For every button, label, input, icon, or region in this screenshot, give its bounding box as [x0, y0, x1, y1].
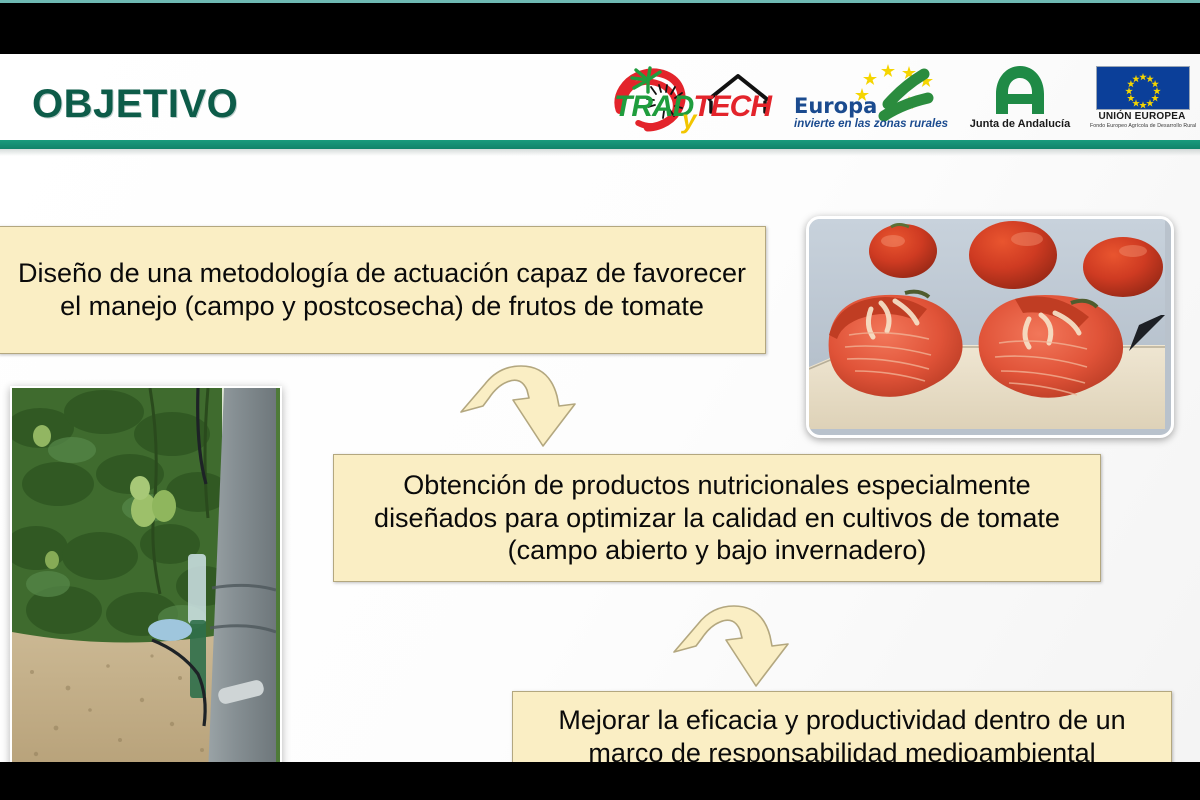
union-europea-subtitle: Fondo Europeo Agrícola de Desarrollo Rur…: [1090, 123, 1194, 129]
eu-flag: [1096, 66, 1190, 110]
tomato-photo-art: [809, 219, 1165, 429]
objective-box-3: Mejorar la eficacia y productividad dent…: [512, 691, 1172, 762]
eu-stars-circle-icon: [1097, 67, 1189, 109]
objective-box-3-text: Mejorar la eficacia y productividad dent…: [527, 704, 1157, 762]
objective-box-2: Obtención de productos nutricionales esp…: [333, 454, 1101, 582]
slide-canvas: OBJETIVO: [0, 54, 1200, 762]
union-europea-title: UNIÓN EUROPEA: [1090, 111, 1194, 122]
objective-box-2-text: Obtención de productos nutricionales esp…: [348, 469, 1086, 568]
letterbox-top: [0, 3, 1200, 54]
tradtech-part-y: y: [682, 104, 696, 135]
tradtech-logo: TRADTECH y: [598, 60, 778, 140]
letterbox-bottom: [0, 762, 1200, 800]
objective-box-1-text: Diseño de una metodología de actuación c…: [13, 257, 751, 323]
screenshot-stage: OBJETIVO: [0, 0, 1200, 800]
logo-strip: TRADTECH y Eu: [598, 56, 1194, 144]
europa-title: Europa: [794, 94, 877, 118]
junta-de-andalucia-logo: Junta de Andalucía: [964, 60, 1076, 140]
curved-arrow-1: [455, 354, 581, 450]
europa-rural-logo: Europa invierte en las zonas rurales: [792, 60, 950, 140]
tradtech-part-tech: TECH: [693, 90, 771, 123]
union-europea-logo: UNIÓN EUROPEA Fondo Europeo Agrícola de …: [1090, 60, 1194, 140]
title-underline-shadow: [0, 149, 1200, 156]
greenhouse-photo-art: [12, 388, 276, 762]
greenhouse-tomato-crop-photo: [10, 386, 282, 762]
europa-subtitle: invierte en las zonas rurales: [794, 118, 948, 130]
page-title: OBJETIVO: [32, 82, 238, 127]
tomato-fruit-photo: [806, 216, 1174, 438]
objective-box-1: Diseño de una metodología de actuación c…: [0, 226, 766, 354]
curved-arrow-2: [668, 594, 794, 690]
junta-label: Junta de Andalucía: [964, 118, 1076, 130]
